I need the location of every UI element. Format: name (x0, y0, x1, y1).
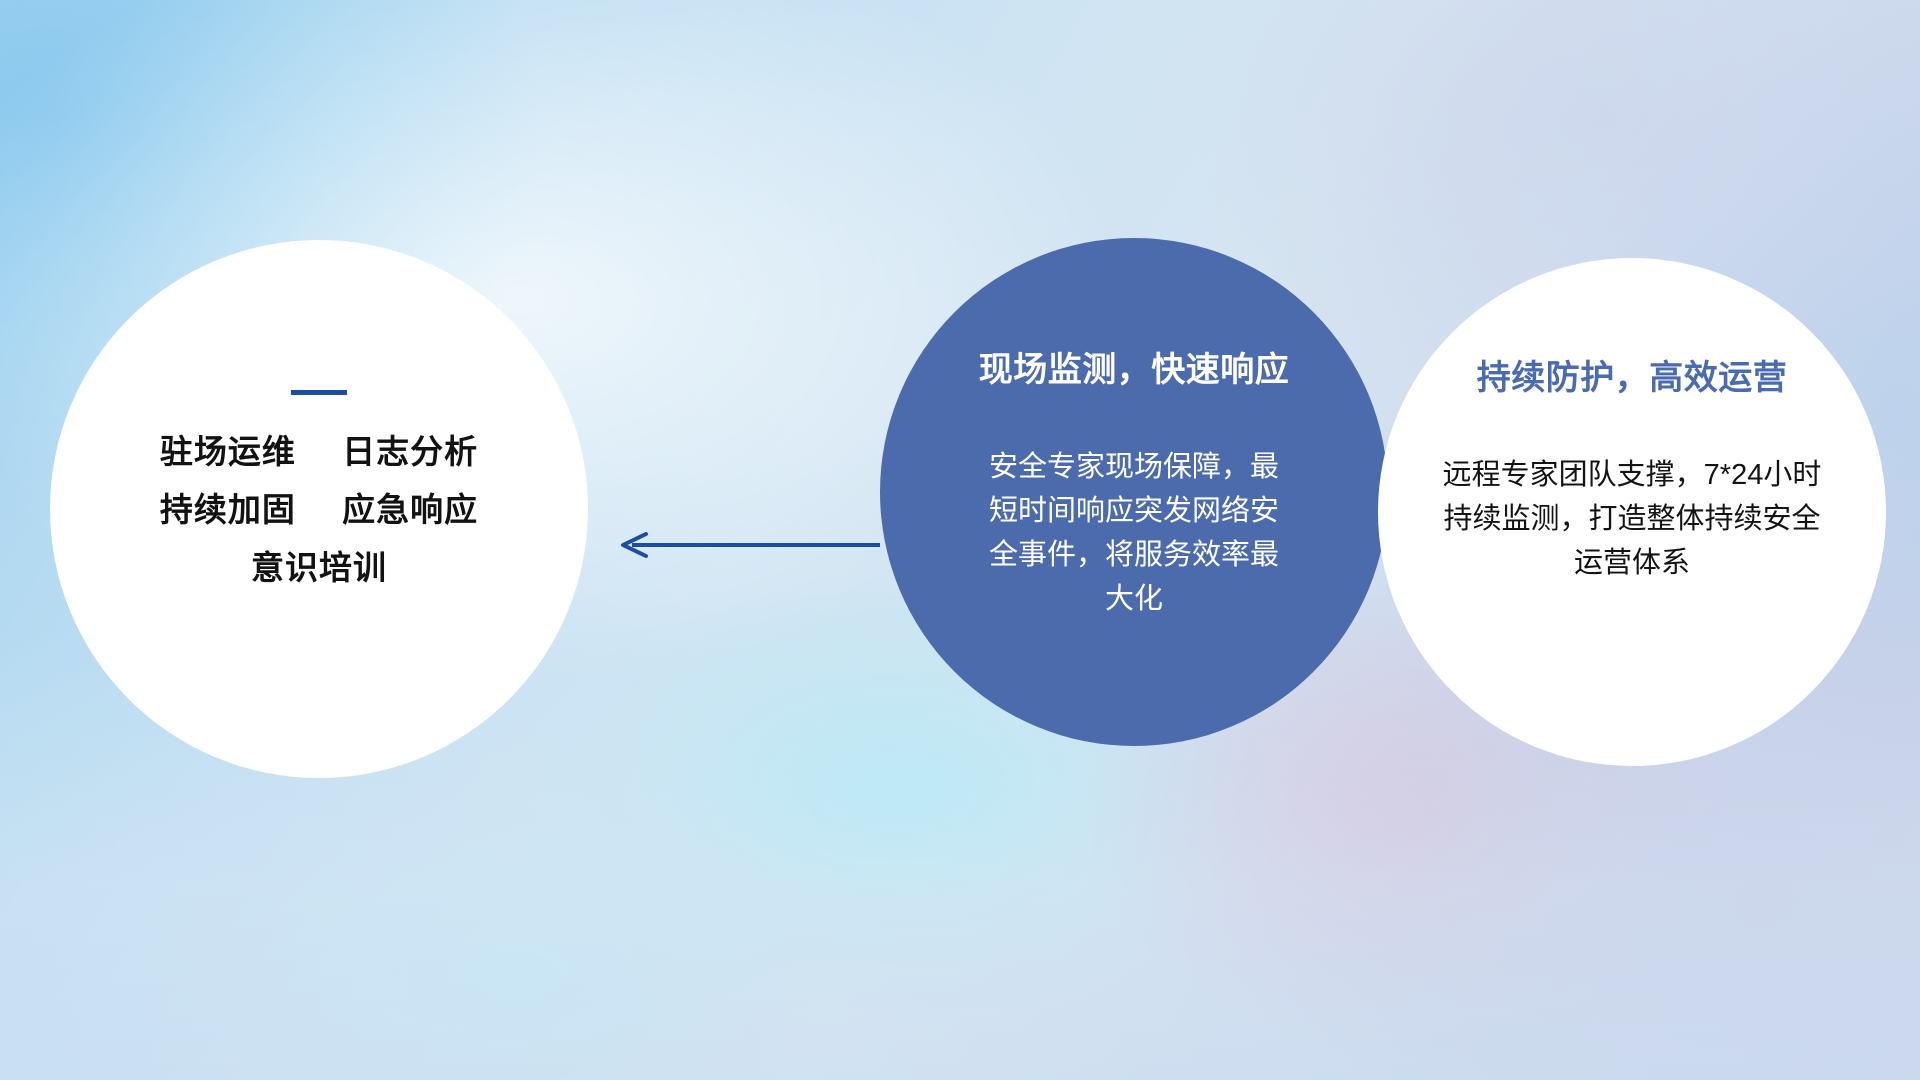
left-service-keyword-list: 驻场运维 日志分析 持续加固 应急响应 意识培训 (160, 433, 478, 587)
keyword-chixujiagu: 持续加固 (160, 491, 296, 528)
keyword-yingjixiangying: 应急响应 (342, 491, 478, 528)
slide-canvas: 驻场运维 日志分析 持续加固 应急响应 意识培训 现场监测，快速响应 安全专家现… (0, 0, 1920, 1080)
left-service-circle[interactable]: 驻场运维 日志分析 持续加固 应急响应 意识培训 (50, 240, 588, 778)
right-card-body: 远程专家团队支撑，7*24小时持续监测，打造整体持续安全运营体系 (1442, 453, 1822, 585)
middle-card-title: 现场监测，快速响应 (979, 350, 1290, 391)
list-item: 驻场运维 日志分析 (160, 433, 478, 471)
list-item: 持续加固 应急响应 (160, 491, 478, 529)
keyword-zhuchangyunwei: 驻场运维 (160, 433, 296, 470)
keyword-yishipeixun: 意识培训 (251, 549, 387, 586)
connector-arrow-left-icon (616, 532, 880, 558)
keyword-rizhifenxi: 日志分析 (342, 433, 478, 470)
right-operations-circle[interactable]: 持续防护，高效运营 远程专家团队支撑，7*24小时持续监测，打造整体持续安全运营… (1378, 258, 1886, 766)
middle-card-body: 安全专家现场保障，最短时间响应突发网络安全事件，将服务效率最大化 (984, 445, 1284, 621)
divider-dash-icon (291, 390, 347, 395)
list-item: 意识培训 (251, 549, 387, 587)
middle-onsite-circle[interactable]: 现场监测，快速响应 安全专家现场保障，最短时间响应突发网络安全事件，将服务效率最… (880, 238, 1388, 746)
right-card-title: 持续防护，高效运营 (1477, 358, 1788, 399)
